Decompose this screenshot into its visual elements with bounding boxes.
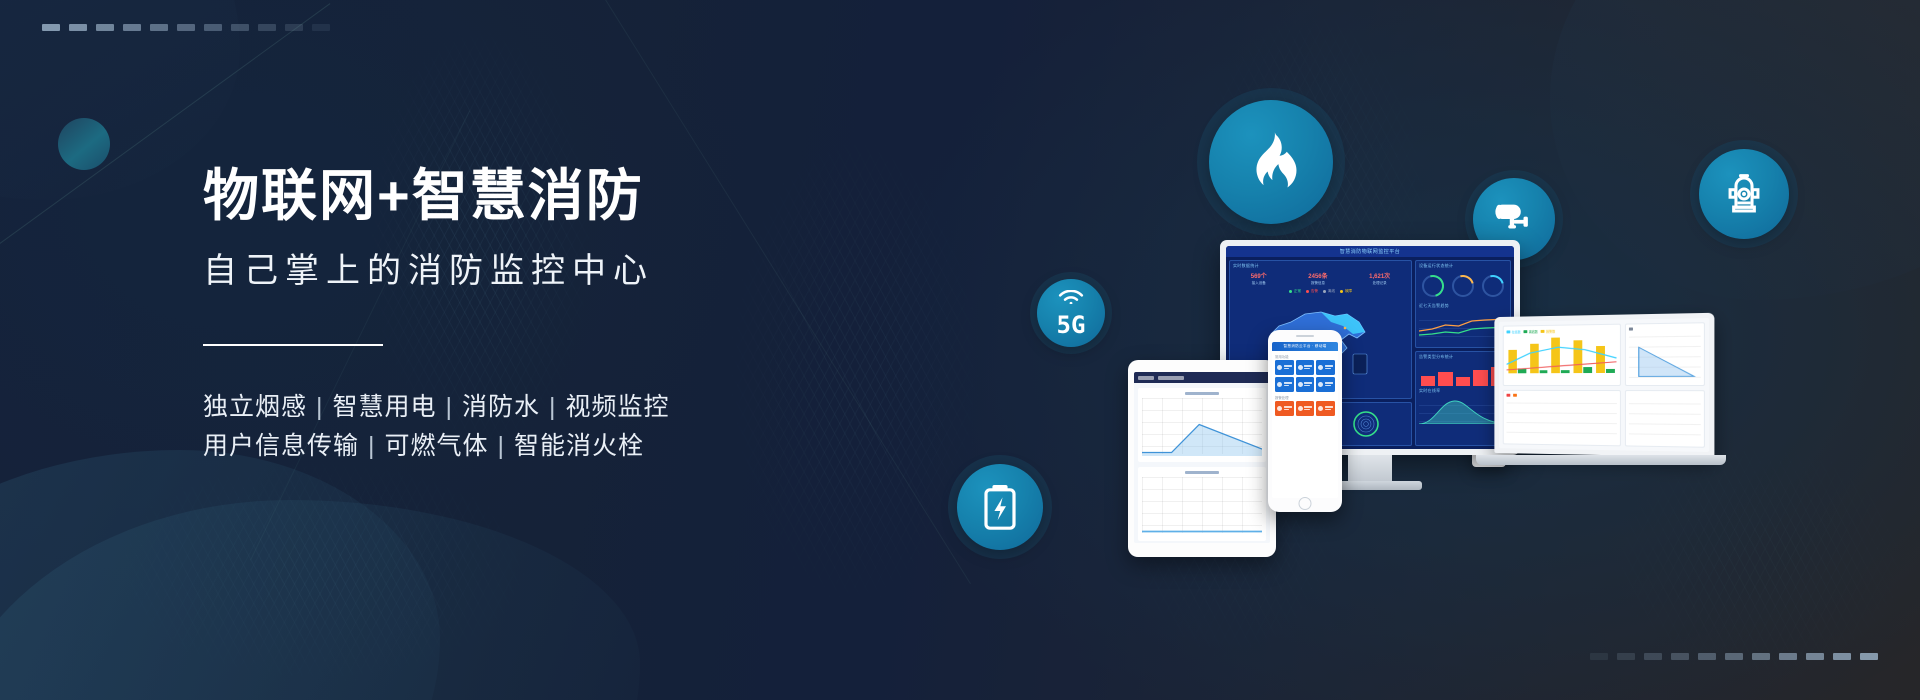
phone-tile[interactable] (1275, 401, 1294, 416)
dash-segment (123, 24, 141, 31)
phone-tile-label (1325, 382, 1333, 387)
alarm-bar (1456, 377, 1470, 385)
phone-tile[interactable] (1296, 377, 1315, 392)
tablet-line-chart-1 (1142, 414, 1262, 456)
phone-tile-label (1325, 365, 1333, 370)
phone-tile[interactable] (1316, 377, 1335, 392)
feature-item[interactable]: 视频监控 (566, 393, 670, 421)
decor-glow-circle (58, 118, 110, 170)
phone-tile-grid-primary[interactable] (1272, 360, 1338, 392)
feature-item[interactable]: 智能消火栓 (514, 432, 644, 460)
alarm-bar (1421, 376, 1435, 386)
kpi-row: 569个接入设备2456条报警信息1,621次处理记录 (1230, 271, 1411, 287)
laptop-bar-offline (1583, 367, 1592, 373)
badge-5g[interactable]: 5G (1030, 272, 1112, 354)
tablet-screen (1134, 372, 1270, 543)
dash-segment (231, 24, 249, 31)
feature-item[interactable]: 可燃气体 (385, 432, 489, 460)
laptop-bar-card: 在线数离线数报警数 (1503, 324, 1621, 386)
gauge-response-rate (1482, 275, 1504, 297)
feature-item[interactable]: 智慧用电 (333, 393, 437, 421)
dash-segment (285, 24, 303, 31)
laptop-bar-group (1552, 335, 1570, 373)
tablet-chart-title-1 (1185, 392, 1219, 395)
dash-segment (1617, 653, 1635, 660)
laptop-curve-legend (1629, 327, 1633, 330)
laptop-side-card (1625, 390, 1705, 448)
kpi-item: 569个接入设备 (1251, 274, 1267, 286)
dash-segment (312, 24, 330, 31)
dash-segment (1644, 653, 1662, 660)
kpi-item: 1,621次处理记录 (1369, 274, 1390, 286)
phone-tile[interactable] (1316, 401, 1335, 416)
dash-segment (204, 24, 222, 31)
tablet-chart-card-2 (1138, 467, 1266, 541)
phone-tile[interactable] (1296, 401, 1315, 416)
phone-tile-icon (1277, 382, 1282, 387)
laptop-legend-item: 在线数 (1507, 329, 1521, 334)
dash-segment (42, 24, 60, 31)
phone-tile-icon (1298, 365, 1303, 370)
feature-item[interactable]: 消防水 (462, 393, 540, 421)
feature-item[interactable]: 用户信息传输 (203, 432, 359, 460)
laptop-bar-offline (1518, 368, 1526, 373)
laptop-bar-online (1574, 340, 1583, 373)
phone-tile-grid-alerts[interactable] (1272, 401, 1338, 416)
feature-item[interactable]: 独立烟感 (203, 393, 307, 421)
monitor-stand-neck (1348, 455, 1392, 481)
gauge-online-rate (1422, 275, 1444, 297)
laptop-bar-group (1508, 336, 1526, 373)
laptop-device: 在线数离线数报警数 (1490, 315, 1740, 475)
laptop-bar-online (1552, 337, 1561, 373)
phone-tile-label (1284, 365, 1292, 370)
kpi-item: 2456条报警信息 (1308, 274, 1327, 286)
phone-tile[interactable] (1275, 377, 1294, 392)
feature-separator: | (359, 432, 385, 460)
badge-hydrant[interactable] (1690, 140, 1798, 248)
status-panel-title: 设备运行状态统计 (1416, 261, 1510, 271)
phone-app-title: 智慧消防云平台 · 移动端 (1283, 344, 1326, 349)
kpi-value: 2456条 (1308, 274, 1327, 280)
phone-section-1: 常用功能 (1272, 351, 1338, 360)
laptop-chart-row-1: 在线数离线数报警数 (1503, 322, 1705, 386)
phone-tile-icon (1298, 406, 1303, 411)
laptop-legend-red-1 (1507, 394, 1511, 397)
kpi-value: 569个 (1251, 274, 1267, 280)
dash-segment (1779, 653, 1797, 660)
laptop-bar-group (1530, 336, 1548, 373)
wifi-signal-icon (1057, 290, 1085, 304)
phone-tile[interactable] (1296, 360, 1315, 375)
hero-banner: 物联网+智慧消防 自己掌上的消防监控中心 独立烟感|智慧用电|消防水|视频监控用… (0, 0, 1920, 700)
dash-strip-bottom (1590, 653, 1878, 660)
laptop-decay-curve (1632, 345, 1701, 380)
tablet-chart-title-2 (1185, 471, 1219, 474)
tablet-device (1128, 360, 1276, 557)
kpi-section-title: 实时数据统计 (1230, 261, 1411, 271)
cctv-camera-icon (1492, 200, 1536, 238)
trend-title: 近七天告警趋势 (1416, 301, 1510, 311)
phone-tile-icon (1277, 406, 1282, 411)
badge-5g-label: 5G (1057, 313, 1086, 337)
laptop-bar-group (1574, 335, 1592, 373)
dash-segment (258, 24, 276, 31)
phone-tile-label (1304, 365, 1312, 370)
laptop-table-grid (1507, 403, 1617, 443)
phone-app-header: 智慧消防云平台 · 移动端 (1272, 342, 1338, 351)
laptop-bar-group (1596, 335, 1615, 373)
kpi-label: 报警信息 (1308, 281, 1327, 286)
laptop-legend-item: 离线数 (1524, 329, 1538, 334)
phone-tile-label (1284, 406, 1292, 411)
laptop-screen: 在线数离线数报警数 (1499, 318, 1709, 452)
dash-strip-top (42, 24, 330, 31)
phone-tile-icon (1318, 365, 1323, 370)
dash-segment (96, 24, 114, 31)
tablet-nav-item[interactable] (1158, 376, 1184, 380)
dash-segment (177, 24, 195, 31)
feature-line: 用户信息传输|可燃气体|智能消火栓 (203, 427, 963, 466)
phone-speaker (1296, 335, 1314, 337)
dashboard-title: 智慧消防物联网监控平台 (1340, 248, 1401, 255)
dashboard-header: 智慧消防物联网监控平台 (1226, 246, 1514, 257)
ring-chart-icon (1350, 408, 1382, 440)
gauge-row (1416, 271, 1510, 301)
laptop-chart-row-2 (1503, 390, 1705, 448)
flame-icon (1242, 131, 1300, 193)
feature-separator: | (489, 432, 515, 460)
phone-tile[interactable] (1275, 360, 1294, 375)
laptop-bar-offline (1606, 369, 1615, 373)
phone-tile[interactable] (1316, 360, 1335, 375)
laptop-side-grid (1629, 403, 1701, 443)
laptop-bar-chart (1507, 335, 1617, 374)
map-legend: 正常告警离线故障 (1230, 287, 1411, 294)
dash-segment (1860, 653, 1878, 660)
dash-segment (1725, 653, 1743, 660)
laptop-bar-offline (1539, 370, 1547, 373)
kpi-label: 处理记录 (1369, 281, 1390, 286)
phone-home-button[interactable] (1299, 497, 1312, 510)
kpi-label: 接入设备 (1251, 281, 1267, 286)
laptop-bar-online (1508, 350, 1516, 373)
mobile-phone: 智慧消防云平台 · 移动端 常用功能 报警处理 (1268, 330, 1342, 512)
battery-bolt-icon (982, 483, 1018, 531)
hero-copy: 物联网+智慧消防 自己掌上的消防监控中心 独立烟感|智慧用电|消防水|视频监控用… (203, 168, 963, 466)
alarm-bar (1473, 370, 1487, 386)
laptop-table-card (1503, 390, 1621, 446)
alarm-bar (1438, 372, 1452, 386)
phone-tile-label (1284, 382, 1292, 387)
device-mockup-cluster: 智慧消防物联网监控平台 实时数据统计 569个接入设备2456条报警信息1,62… (1120, 285, 1740, 575)
decor-blob-bottom-left-2 (0, 500, 640, 700)
laptop-lid: 在线数离线数报警数 (1494, 313, 1714, 457)
laptop-chart-legend: 在线数离线数报警数 (1507, 328, 1617, 335)
laptop-bar-offline (1561, 370, 1570, 373)
fire-hydrant-icon (1722, 169, 1766, 219)
feature-separator: | (307, 393, 333, 421)
page-title: 物联网+智慧消防 (203, 168, 963, 224)
laptop-legend-item: 报警数 (1541, 329, 1555, 334)
tablet-chart-card-1 (1138, 388, 1266, 462)
dash-segment (1590, 653, 1608, 660)
dash-segment (1833, 653, 1851, 660)
dash-segment (1806, 653, 1824, 660)
feature-separator: | (540, 393, 566, 421)
laptop-base (1476, 455, 1726, 465)
gauge-handled-rate (1452, 275, 1474, 297)
feature-separator: | (437, 393, 463, 421)
laptop-legend-orange-1 (1513, 394, 1517, 397)
phone-tile-label (1304, 382, 1312, 387)
kpi-value: 1,621次 (1369, 274, 1390, 280)
phone-tile-icon (1318, 382, 1323, 387)
page-subtitle: 自己掌上的消防监控中心 (203, 254, 963, 288)
phone-section-2: 报警处理 (1272, 392, 1338, 401)
dash-segment (69, 24, 87, 31)
tablet-line-chart-2 (1142, 493, 1262, 535)
laptop-bar-online (1530, 344, 1538, 373)
feature-list: 独立烟感|智慧用电|消防水|视频监控用户信息传输|可燃气体|智能消火栓 (203, 388, 963, 466)
phone-tile-icon (1318, 406, 1323, 411)
phone-screen: 智慧消防云平台 · 移动端 常用功能 报警处理 (1272, 342, 1338, 498)
dash-segment (150, 24, 168, 31)
tablet-nav-item[interactable] (1138, 376, 1154, 380)
tablet-navbar[interactable] (1134, 372, 1270, 383)
laptop-curve-card (1625, 322, 1705, 386)
phone-tile-icon (1277, 365, 1282, 370)
phone-tile-icon (1298, 382, 1303, 387)
dash-segment (1671, 653, 1689, 660)
phone-tile-label (1325, 406, 1333, 411)
badge-battery[interactable] (948, 455, 1052, 559)
laptop-bar-online (1596, 346, 1605, 373)
feature-line: 独立烟感|智慧用电|消防水|视频监控 (203, 388, 963, 427)
badge-fire[interactable] (1197, 88, 1345, 236)
decor-blob-bottom-left-1 (0, 450, 440, 700)
title-divider (203, 344, 383, 346)
dash-segment (1698, 653, 1716, 660)
dash-segment (1752, 653, 1770, 660)
phone-tile-label (1304, 406, 1312, 411)
